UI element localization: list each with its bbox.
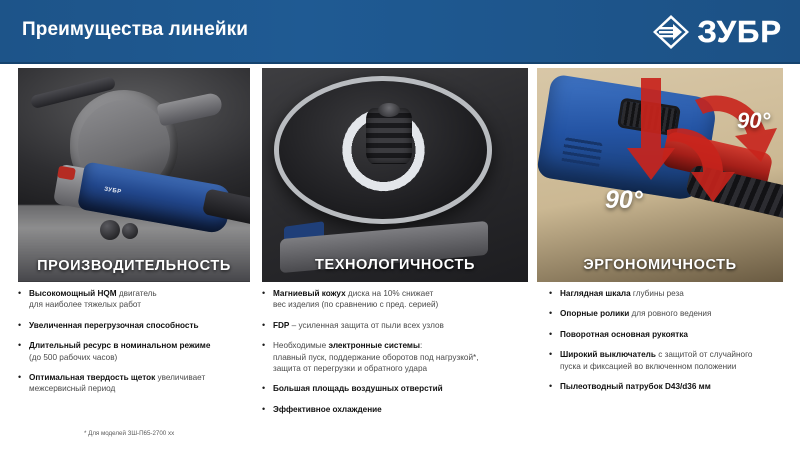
card-ergonomics-bullets: Наглядная шкала глубины реза Опорные рол…	[549, 288, 783, 401]
bullet-item: Высокомощный HQM двигатель для наиболее …	[18, 288, 250, 311]
card-performance-image: ЗУБР ПРОИЗВОДИТЕЛЬНОСТЬ	[18, 68, 250, 282]
bullet-item: Наглядная шкала глубины реза	[549, 288, 783, 299]
slide-root: Преимущества линейки ЗУБР	[0, 0, 800, 450]
page-title: Преимущества линейки	[22, 19, 248, 41]
brand-logo: ЗУБР	[651, 13, 782, 51]
bullet-item: Широкий выключатель с защитой от случайн…	[549, 349, 783, 372]
bullet-item: Опорные ролики для ровного ведения	[549, 308, 783, 319]
bullet-item: Пылеотводный патрубок D43/d36 мм	[549, 381, 783, 392]
cards-row: ЗУБР ПРОИЗВОДИТЕЛЬНОСТЬ Высокомощный HQM…	[0, 68, 800, 428]
bullet-item: Необходимые электронные системы: плавный…	[262, 340, 528, 374]
card-ergonomics-image: 90° 90° ЭРГОНОМИЧНОСТЬ	[537, 68, 783, 282]
slide-header: Преимущества линейки ЗУБР	[0, 0, 800, 64]
card-ergonomics: 90° 90° ЭРГОНОМИЧНОСТЬ Наглядная шкала г…	[537, 68, 783, 282]
zubr-diamond-logo-icon	[651, 13, 691, 51]
card-performance: ЗУБР ПРОИЗВОДИТЕЛЬНОСТЬ Высокомощный HQM…	[18, 68, 250, 282]
card-technology-bullets: Магниевый кожух диска на 10% снижает вес…	[262, 288, 528, 424]
bullet-item: Увеличенная перегрузочная способность	[18, 320, 250, 331]
card-ergonomics-title: ЭРГОНОМИЧНОСТЬ	[537, 257, 783, 273]
bullet-item: Длительный ресурс в номинальном режиме (…	[18, 340, 250, 363]
card-technology: ТЕХНОЛОГИЧНОСТЬ Магниевый кожух диска на…	[262, 68, 528, 282]
card-performance-bullets: Высокомощный HQM двигатель для наиболее …	[18, 288, 250, 404]
brand-name: ЗУБР	[698, 13, 782, 51]
footnote: * Для моделей ЗШ-П65-2700 хх	[84, 430, 174, 437]
angle-label-right: 90°	[737, 108, 770, 134]
bullet-item: Эффективное охлаждение	[262, 404, 528, 415]
card-performance-title: ПРОИЗВОДИТЕЛЬНОСТЬ	[18, 258, 250, 274]
bullet-item: Большая площадь воздушных отверстий	[262, 383, 528, 394]
angle-label-left: 90°	[605, 186, 643, 215]
card-technology-image: ТЕХНОЛОГИЧНОСТЬ	[262, 68, 528, 282]
bullet-item: Магниевый кожух диска на 10% снижает вес…	[262, 288, 528, 311]
bullet-item: Оптимальная твердость щеток увеличивает …	[18, 372, 250, 395]
bullet-item: FDP – усиленная защита от пыли всех узло…	[262, 320, 528, 331]
bullet-item: Поворотная основная рукоятка	[549, 329, 783, 340]
card-technology-title: ТЕХНОЛОГИЧНОСТЬ	[262, 257, 528, 273]
